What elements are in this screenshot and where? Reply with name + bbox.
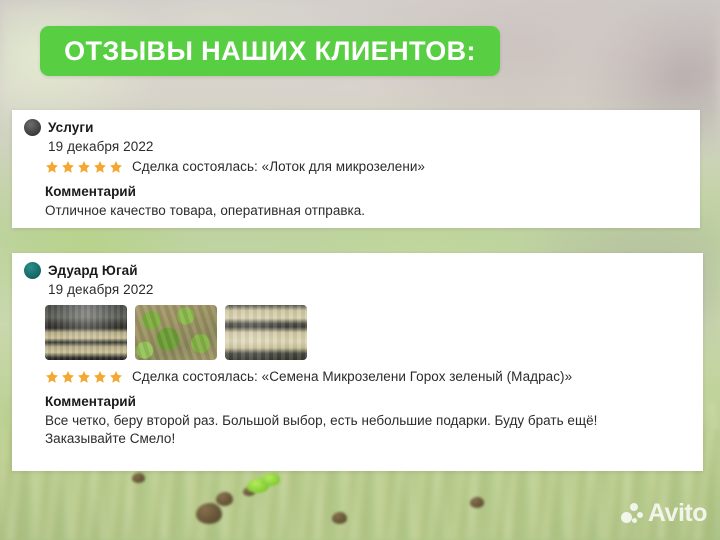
star-icon: [45, 160, 59, 174]
avito-watermark: Avito: [621, 501, 707, 526]
review-deal-text: Сделка состоялась: «Лоток для микрозелен…: [132, 159, 425, 174]
review-photo-thumbnail[interactable]: [225, 305, 307, 360]
review-header: Эдуард Югай: [12, 253, 703, 279]
star-rating: [45, 160, 123, 174]
reviewer-name: Эдуард Югай: [48, 263, 138, 278]
header-banner: ОТЗЫВЫ НАШИХ КЛИЕНТОВ:: [40, 26, 500, 76]
review-comment-label: Комментарий: [12, 384, 703, 409]
review-date: 19 декабря 2022: [12, 136, 700, 154]
star-rating: [45, 370, 123, 384]
header-banner-title: ОТЗЫВЫ НАШИХ КЛИЕНТОВ:: [64, 36, 476, 67]
review-comment-text: Все четко, беру второй раз. Большой выбо…: [12, 409, 703, 430]
user-avatar: [24, 262, 41, 279]
review-collage-image: ОТЗЫВЫ НАШИХ КЛИЕНТОВ: Услуги 19 декабря…: [0, 0, 720, 540]
star-icon: [109, 370, 123, 384]
review-photo-thumbnail[interactable]: [135, 305, 217, 360]
review-deal-text: Сделка состоялась: «Семена Микрозелени Г…: [132, 369, 572, 384]
review-comment-text: Отличное качество товара, оперативная от…: [12, 199, 700, 220]
review-rating-row: Сделка состоялась: «Лоток для микрозелен…: [12, 154, 700, 174]
review-card[interactable]: Эдуард Югай 19 декабря 2022 Сделка состо…: [12, 253, 703, 471]
review-date: 19 декабря 2022: [12, 279, 703, 297]
review-photo-thumbnails: [12, 297, 703, 360]
avito-watermark-label: Avito: [648, 501, 707, 526]
avito-dots-icon: [621, 503, 644, 524]
review-header: Услуги: [12, 110, 700, 136]
review-photo-thumbnail[interactable]: [45, 305, 127, 360]
star-icon: [61, 370, 75, 384]
star-icon: [77, 370, 91, 384]
star-icon: [77, 160, 91, 174]
review-rating-row: Сделка состоялась: «Семена Микрозелени Г…: [12, 360, 703, 384]
star-icon: [109, 160, 123, 174]
star-icon: [45, 370, 59, 384]
star-icon: [93, 370, 107, 384]
review-comment-label: Комментарий: [12, 174, 700, 199]
star-icon: [93, 160, 107, 174]
user-avatar: [24, 119, 41, 136]
star-icon: [61, 160, 75, 174]
reviewer-name: Услуги: [48, 120, 93, 135]
review-comment-text: Заказывайте Смело!: [12, 430, 703, 448]
review-card[interactable]: Услуги 19 декабря 2022 Сделка состоялась…: [12, 110, 700, 228]
